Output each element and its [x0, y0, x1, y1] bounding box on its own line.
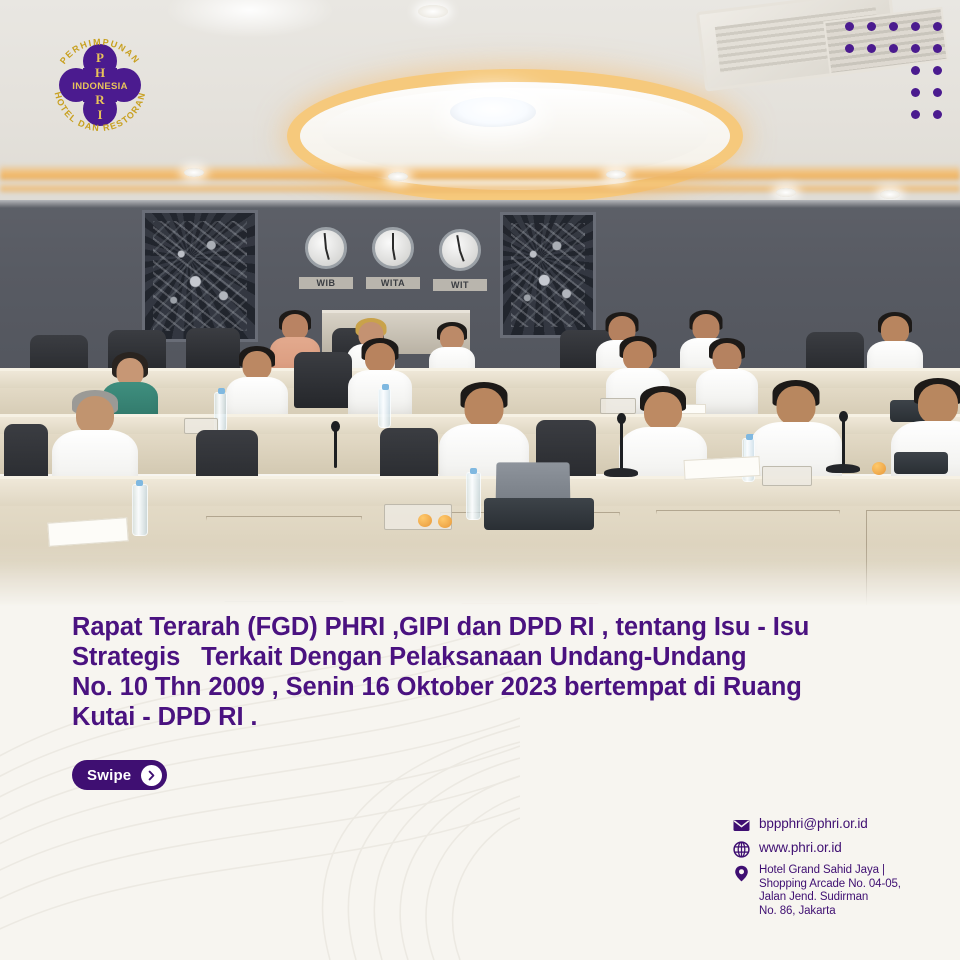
- clock-label-wita: WITA: [366, 277, 420, 289]
- contact-address-row: Hotel Grand Sahid Jaya | Shopping Arcade…: [733, 864, 948, 918]
- downlight: [388, 172, 408, 181]
- device: [894, 452, 948, 474]
- downlight: [880, 190, 900, 199]
- envelope-icon: [733, 817, 750, 834]
- wood-carving-panel-right: [500, 212, 596, 338]
- attendee: [60, 390, 130, 486]
- wall-clock-wita: [372, 227, 414, 269]
- attendee: [870, 312, 920, 376]
- grid-dot: [933, 66, 942, 75]
- laptop-bag: [484, 498, 594, 530]
- orange-fruit: [872, 462, 886, 475]
- grid-dot: [889, 22, 898, 31]
- microphone: [842, 418, 845, 468]
- document: [684, 456, 761, 480]
- attendee: [230, 346, 284, 416]
- social-media-poster: WIB WITA WIT: [0, 0, 960, 960]
- dot-grid-decoration: [845, 22, 945, 114]
- grid-dot: [933, 44, 942, 53]
- clock-label-wib: WIB: [299, 277, 353, 289]
- wood-carving-panel-left: [142, 210, 258, 342]
- swipe-button-label: Swipe: [87, 767, 131, 784]
- logo-letter-i: I: [97, 107, 102, 122]
- attendee: [760, 380, 832, 480]
- grid-dot: [867, 44, 876, 53]
- title-line: Kutai - DPD RI .: [72, 702, 902, 732]
- swipe-button[interactable]: Swipe: [72, 760, 167, 790]
- logo-letter-p: P: [96, 50, 104, 65]
- contact-email-row[interactable]: bppphri@phri.or.id: [733, 816, 948, 834]
- water-bottle: [132, 484, 148, 536]
- title-line: Strategis Terkait Dengan Pelaksanaan Und…: [72, 642, 902, 672]
- grid-dot: [933, 88, 942, 97]
- grid-dot: [911, 44, 920, 53]
- grid-dot: [933, 110, 942, 119]
- cove-light-strip: [0, 164, 960, 180]
- grid-dot: [911, 66, 920, 75]
- grid-dot: [889, 44, 898, 53]
- grid-dot: [867, 22, 876, 31]
- snack-box: [762, 466, 812, 486]
- attendee: [700, 338, 754, 408]
- title-line: Rapat Terarah (FGD) PHRI ,GIPI dan DPD R…: [72, 612, 902, 642]
- cove-light-strip-secondary: [0, 182, 960, 192]
- chair: [294, 352, 352, 408]
- wall-clock-wit: [439, 229, 481, 271]
- phri-logo: P H R I INDONESIA PERHIMPUNAN HOTEL DAN …: [40, 25, 160, 145]
- grid-dot: [845, 44, 854, 53]
- microphone: [334, 428, 337, 468]
- logo-indonesia-text: INDONESIA: [72, 81, 127, 92]
- contact-website: www.phri.or.id: [759, 840, 842, 855]
- downlight: [184, 168, 204, 177]
- clock-label-wit: WIT: [433, 279, 487, 291]
- grid-dot: [845, 22, 854, 31]
- globe-icon: [733, 841, 750, 858]
- contact-address: Hotel Grand Sahid Jaya | Shopping Arcade…: [759, 864, 901, 918]
- orange-fruit: [438, 515, 452, 528]
- grid-dot: [911, 88, 920, 97]
- contact-website-row[interactable]: www.phri.or.id: [733, 840, 948, 858]
- logo-letter-h: H: [95, 65, 105, 80]
- wall-light-strip: [0, 200, 960, 208]
- grid-dot: [911, 22, 920, 31]
- contact-email: bppphri@phri.or.id: [759, 816, 868, 831]
- desk-panel: [866, 510, 960, 606]
- chevron-right-icon: [141, 765, 162, 786]
- microphone-base: [604, 468, 638, 477]
- title-line: No. 10 Thn 2009 , Senin 16 Oktober 2023 …: [72, 672, 902, 702]
- downlight: [606, 170, 626, 179]
- page-title: Rapat Terarah (FGD) PHRI ,GIPI dan DPD R…: [72, 612, 902, 732]
- grid-dot: [933, 22, 942, 31]
- ceiling-lamp: [450, 97, 536, 127]
- contact-info: bppphri@phri.or.id www.phri.or.id: [733, 816, 948, 924]
- orange-fruit: [418, 514, 432, 527]
- location-pin-icon: [733, 865, 750, 882]
- logo-letter-r: R: [95, 92, 105, 107]
- downlight: [418, 5, 448, 18]
- grid-dot: [911, 110, 920, 119]
- microphone-base: [826, 464, 860, 473]
- desk-panel: [656, 510, 840, 606]
- wall-clock-wib: [305, 227, 347, 269]
- microphone: [620, 420, 623, 472]
- water-bottle: [466, 472, 481, 520]
- water-bottle: [378, 388, 391, 428]
- downlight: [776, 188, 796, 197]
- desk-panel: [206, 516, 362, 602]
